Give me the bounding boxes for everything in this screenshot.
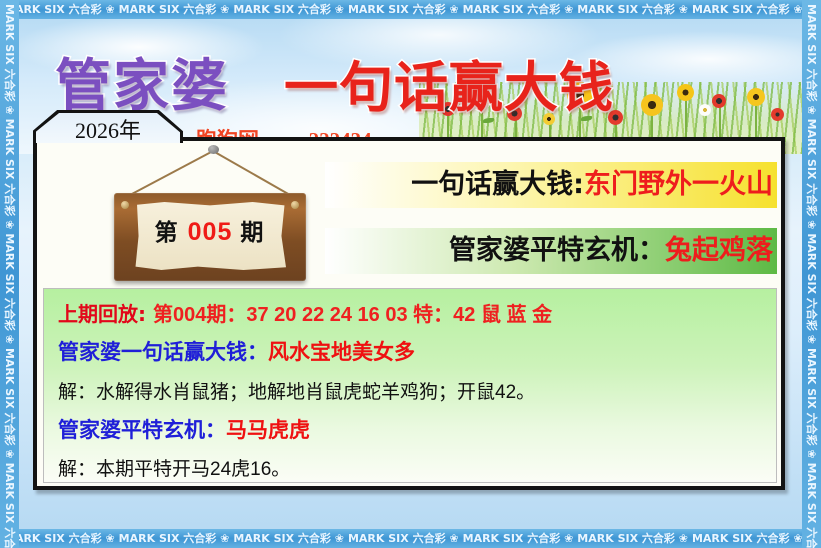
year-tab: 2026年 [33, 110, 183, 143]
border-marquee-text-bottom-2: MARK SIX 六合彩 ❀ [115, 529, 230, 548]
border-left: MARK SIX 六合彩 ❀ MARK SIX 六合彩 ❀ MARK SIX 六… [0, 0, 19, 548]
phrase-win-key: 管家婆一句话赢大钱： [58, 340, 268, 364]
flower-yellow [747, 88, 765, 106]
banner-phrase-win: 一句话赢大钱:东门野外一火山 [325, 162, 777, 208]
border-marquee-text-bottom-7: MARK SIX 六合彩 ❀ [688, 529, 803, 548]
flower-red [712, 94, 726, 108]
border-marquee-text-top-3: MARK SIX 六合彩 ❀ [229, 0, 344, 19]
hanging-sign: 第005期 [100, 145, 320, 290]
border-marquee-text-right-4: MARK SIX 六合彩 ❀ [802, 344, 821, 459]
replay-body: 第004期：37 20 22 24 16 03 特：42 鼠 蓝 金 [153, 304, 552, 326]
pingte-xuanji-row: 管家婆平特玄机：马马虎虎 [58, 414, 310, 444]
issue-number: 005 [188, 218, 233, 246]
issue-prefix: 第 [155, 220, 180, 245]
border-bottom: MARK SIX 六合彩 ❀ MARK SIX 六合彩 ❀ MARK SIX 六… [0, 529, 821, 548]
border-right: MARK SIX 六合彩 ❀ MARK SIX 六合彩 ❀ MARK SIX 六… [802, 0, 821, 548]
border-marquee-text-right: MARK SIX 六合彩 ❀ [802, 0, 821, 115]
banner-phrase-win-key: 一句话赢大钱: [411, 169, 584, 200]
border-marquee-text-right-3: MARK SIX 六合彩 ❀ [802, 229, 821, 344]
year-tab-label: 2026年 [33, 113, 183, 145]
border-marquee-text-bottom-6: MARK SIX 六合彩 ❀ [573, 529, 688, 548]
replay-row: 上期回放: 第004期：37 20 22 24 16 03 特：42 鼠 蓝 金 [58, 298, 552, 327]
banner-pingte-key: 管家婆平特玄机： [449, 235, 665, 266]
poster-root: MARK SIX 六合彩 ❀ MARK SIX 六合彩 ❀ MARK SIX 六… [0, 0, 821, 548]
border-marquee-text-left-4: MARK SIX 六合彩 ❀ [0, 344, 19, 459]
page-title-main: 管家婆 [55, 41, 229, 122]
border-marquee-text-left-5: MARK SIX 六合彩 ❀ [0, 459, 19, 548]
border-left-text: MARK SIX 六合彩 ❀ MARK SIX 六合彩 ❀ MARK SIX 六… [0, 0, 19, 548]
phrase-win-value: 风水宝地美女多 [268, 340, 415, 364]
pingte-xuanji-explanation: 解：本期平特开马24虎16。 [58, 454, 290, 481]
border-marquee-text-top-4: MARK SIX 六合彩 ❀ [344, 0, 459, 19]
pingte-xuanji-value: 马马虎虎 [226, 418, 310, 442]
border-marquee-text-right-5: MARK SIX 六合彩 ❀ [802, 459, 821, 548]
border-right-text: MARK SIX 六合彩 ❀ MARK SIX 六合彩 ❀ MARK SIX 六… [802, 0, 821, 548]
issue-label: 第005期 [114, 213, 306, 247]
flower-yellow [641, 94, 663, 116]
phrase-win-explanation: 解：水解得水肖鼠猪；地解地肖鼠虎蛇羊鸡狗；开鼠42。 [58, 377, 535, 404]
flower-yellow [677, 84, 694, 101]
sign-nail-icon [208, 145, 219, 154]
banner-pingte-xuanji: 管家婆平特玄机：兔起鸡落 [325, 228, 777, 274]
border-marquee-text-right-2: MARK SIX 六合彩 ❀ [802, 115, 821, 230]
border-marquee-text-left: MARK SIX 六合彩 ❀ [0, 0, 19, 115]
border-marquee-text-bottom-3: MARK SIX 六合彩 ❀ [229, 529, 344, 548]
banner-pingte-value: 兔起鸡落 [665, 235, 773, 266]
banner-phrase-win-value: 东门野外一火山 [584, 169, 773, 200]
phrase-win-row: 管家婆一句话赢大钱：风水宝地美女多 [58, 336, 415, 366]
content-green-box: 上期回放: 第004期：37 20 22 24 16 03 特：42 鼠 蓝 金… [43, 288, 777, 483]
border-marquee-text-left-3: MARK SIX 六合彩 ❀ [0, 229, 19, 344]
border-marquee-text-top-2: MARK SIX 六合彩 ❀ [115, 0, 230, 19]
flower-red [771, 108, 784, 121]
border-marquee-text-top-6: MARK SIX 六合彩 ❀ [573, 0, 688, 19]
sign-board: 第005期 [114, 193, 306, 281]
border-marquee-text-top-7: MARK SIX 六合彩 ❀ [688, 0, 803, 19]
border-marquee-text-top-5: MARK SIX 六合彩 ❀ [459, 0, 574, 19]
border-marquee-text-bottom-5: MARK SIX 六合彩 ❀ [459, 529, 574, 548]
border-marquee-text-bottom-4: MARK SIX 六合彩 ❀ [344, 529, 459, 548]
page-title-sub: 一句话赢大钱 [284, 43, 614, 122]
border-top: MARK SIX 六合彩 ❀ MARK SIX 六合彩 ❀ MARK SIX 六… [0, 0, 821, 19]
issue-suffix: 期 [240, 220, 265, 245]
replay-label: 上期回放: [58, 302, 146, 326]
border-marquee-text-left-2: MARK SIX 六合彩 ❀ [0, 115, 19, 230]
pingte-xuanji-key: 管家婆平特玄机： [58, 418, 226, 442]
flower-white [699, 104, 711, 116]
